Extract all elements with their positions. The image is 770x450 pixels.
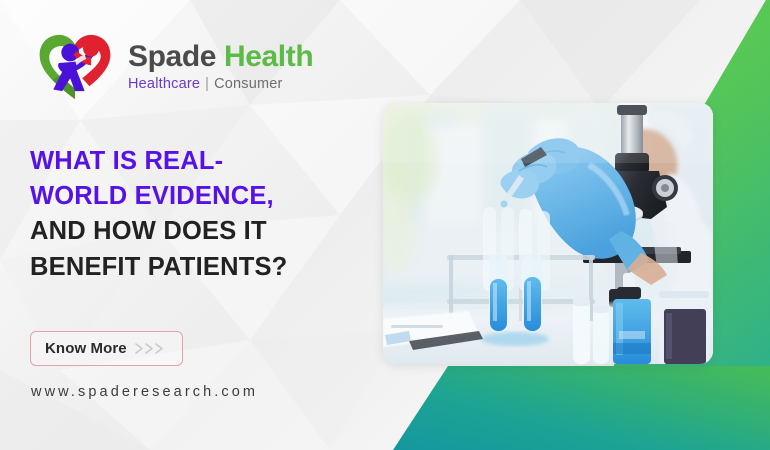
headline-line-3: AND HOW DOES IT	[30, 214, 380, 249]
know-more-label: Know More	[45, 340, 127, 357]
headline-line-1: WHAT IS REAL-	[30, 144, 380, 179]
triple-chevron-right-icon	[134, 342, 168, 355]
tagline-separator: |	[205, 76, 209, 92]
brand-tagline: Healthcare|Consumer	[128, 77, 313, 93]
headline-line-2: WORLD EVIDENCE,	[30, 179, 380, 214]
website-url[interactable]: www.spaderesearch.com	[31, 384, 258, 400]
wordmark-health: Health	[224, 40, 313, 73]
headline-line-4: BENEFIT PATIENTS?	[30, 250, 380, 285]
brand-text: Spade Health Healthcare|Consumer	[128, 41, 313, 92]
promo-banner: Spade Health Healthcare|Consumer WHAT IS…	[0, 0, 770, 450]
headline: WHAT IS REAL- WORLD EVIDENCE, AND HOW DO…	[30, 144, 380, 285]
brand-logo[interactable]: Spade Health Healthcare|Consumer	[34, 30, 313, 104]
wordmark-spade: Spade	[128, 40, 216, 73]
know-more-button[interactable]: Know More	[30, 331, 183, 366]
heart-people-logo-icon	[34, 30, 116, 104]
laboratory-microscope-photo	[383, 103, 713, 364]
tagline-consumer: Consumer	[214, 76, 283, 92]
brand-wordmark: Spade Health	[128, 41, 313, 73]
tagline-healthcare: Healthcare	[128, 76, 200, 92]
